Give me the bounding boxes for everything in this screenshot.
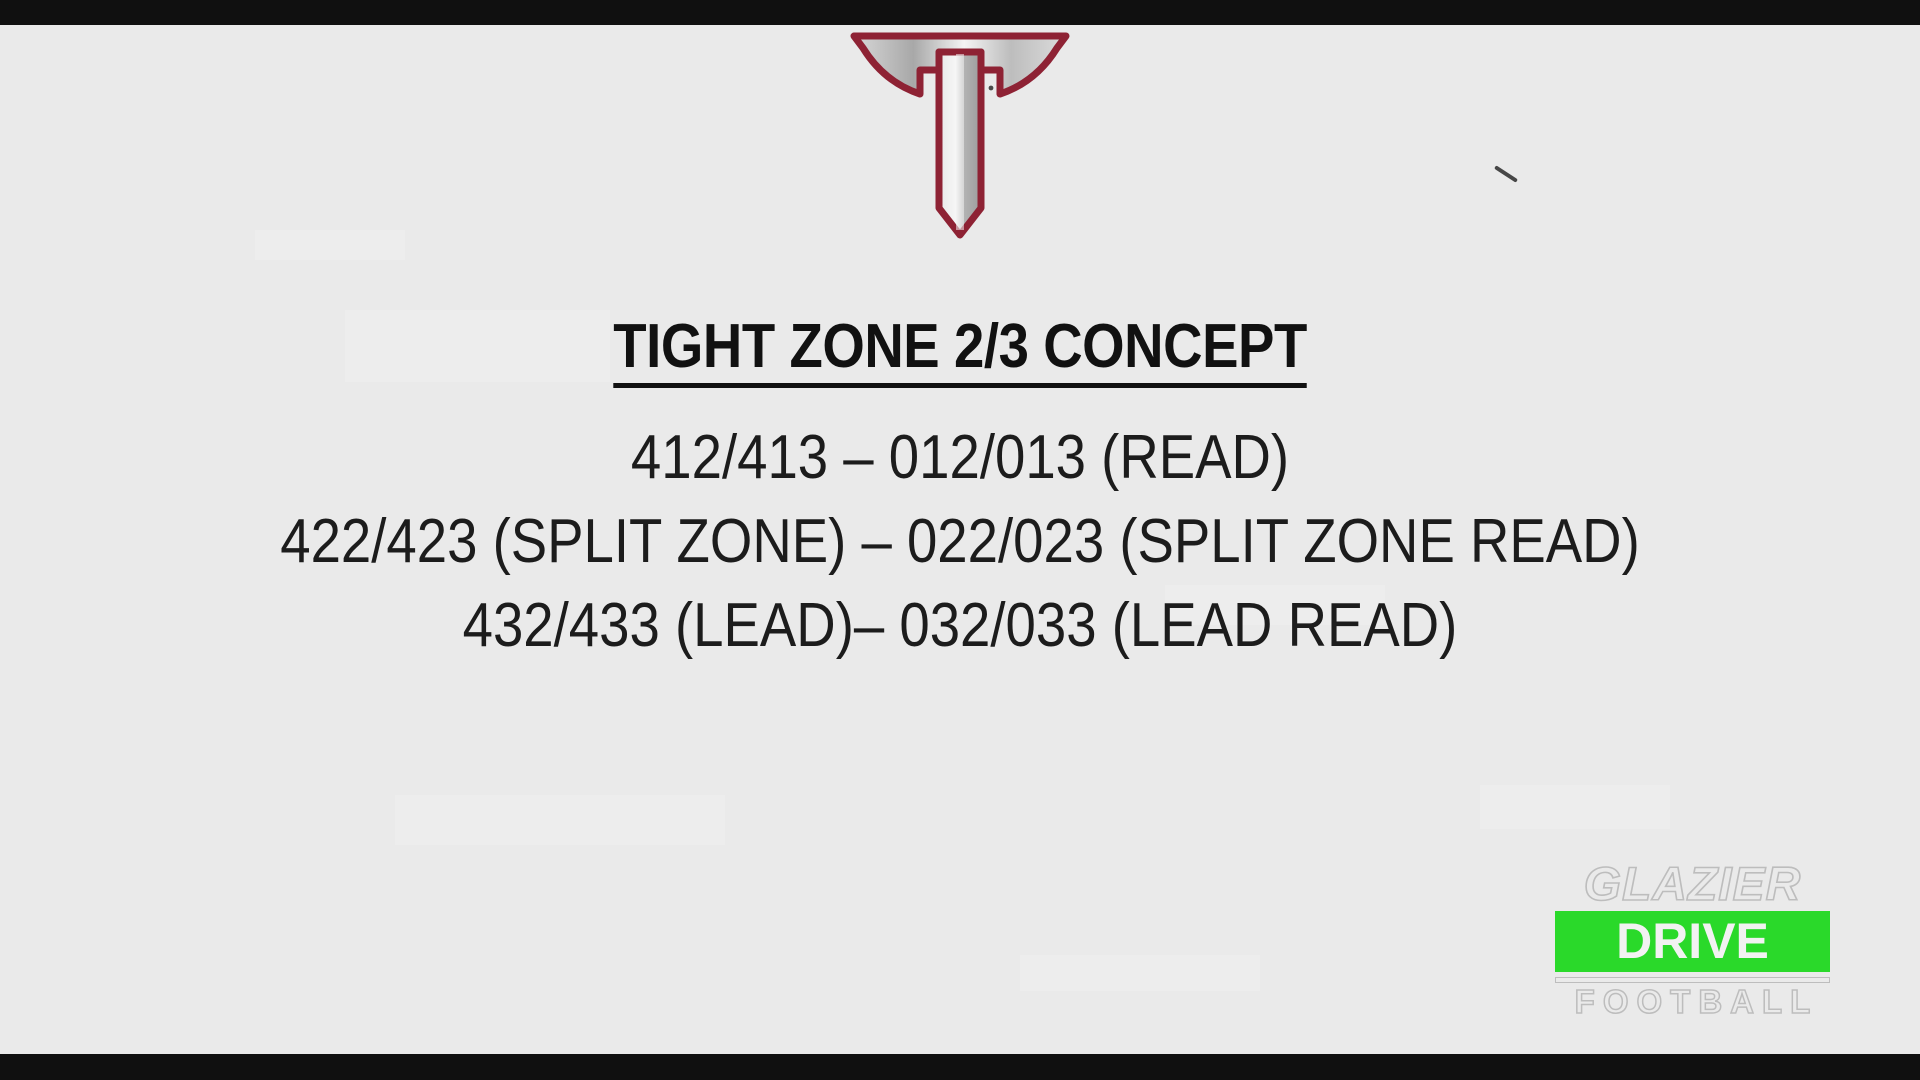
- letterbox-bar-bottom: [0, 1054, 1920, 1080]
- video-frame: TIGHT ZONE 2/3 CONCEPT 412/413 – 012/013…: [0, 0, 1920, 1080]
- troy-t-logo: [850, 25, 1070, 247]
- play-call-line-1: 412/413 – 012/013 (READ): [115, 416, 1805, 500]
- background-artifact: [255, 230, 405, 260]
- glazier-drive-football-watermark: GLAZIER DRIVE FOOTBALL: [1555, 860, 1830, 1035]
- slide-text-block: TIGHT ZONE 2/3 CONCEPT 412/413 – 012/013…: [0, 315, 1920, 668]
- presentation-slide: TIGHT ZONE 2/3 CONCEPT 412/413 – 012/013…: [0, 25, 1920, 1054]
- background-artifact: [395, 795, 725, 845]
- telestrator-mark: [1494, 165, 1518, 183]
- watermark-football-text: FOOTBALL: [1555, 985, 1830, 1018]
- background-artifact: [1020, 955, 1260, 991]
- play-call-line-2: 422/423 (SPLIT ZONE) – 022/023 (SPLIT ZO…: [115, 500, 1805, 584]
- page-title: TIGHT ZONE 2/3 CONCEPT: [613, 315, 1307, 388]
- slide-title-row: TIGHT ZONE 2/3 CONCEPT: [0, 315, 1920, 388]
- play-call-line-3: 432/433 (LEAD)– 032/033 (LEAD READ): [115, 584, 1805, 668]
- watermark-glazier-text: GLAZIER: [1552, 860, 1833, 907]
- watermark-drive-text: DRIVE: [1562, 916, 1823, 966]
- watermark-drive-bar: DRIVE: [1555, 911, 1830, 972]
- letterbox-bar-top: [0, 0, 1920, 25]
- background-artifact: [1480, 785, 1670, 829]
